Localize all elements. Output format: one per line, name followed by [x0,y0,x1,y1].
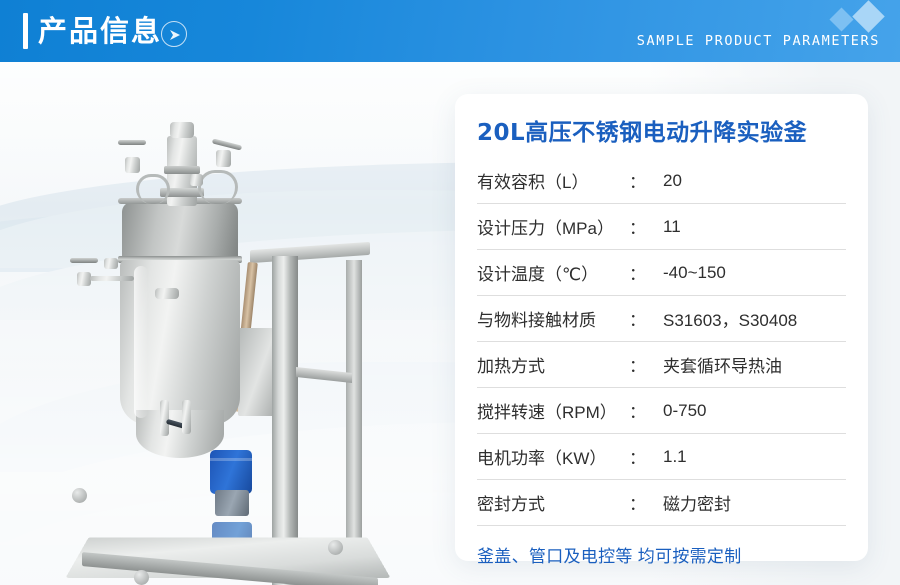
table-row: 设计压力（MPa） ： 11 [477,204,846,250]
spec-colon: ： [629,168,663,193]
spec-label: 搅拌转速（RPM） [477,398,629,423]
spec-value: 0-750 [663,401,846,421]
drive-motor [210,450,252,494]
spec-label: 密封方式 [477,490,629,515]
spec-colon: ： [629,490,663,515]
reactor-jacket [122,202,238,264]
table-row: 搅拌转速（RPM） ： 0-750 [477,388,846,434]
caster-wheel [72,488,87,503]
banner-subtitle: SAMPLE PRODUCT PARAMETERS [637,33,880,49]
product-parameters-card: 20L高压不锈钢电动升降实验釜 有效容积（L） ： 20 设计压力（MPa） ：… [455,94,868,561]
spec-value: 磁力密封 [663,490,846,515]
spec-value: 11 [663,217,846,237]
frame-column-main [272,256,298,585]
product-spec-page: 产品信息 SAMPLE PRODUCT PARAMETERS [0,0,900,585]
table-row: 有效容积（L） ： 20 [477,158,846,204]
spec-label: 与物料接触材质 [477,306,629,331]
frame-column-rear [346,260,362,578]
title-accent-bar [23,13,28,49]
spec-colon: ： [629,352,663,377]
table-row: 密封方式 ： 磁力密封 [477,480,846,526]
table-row: 电机功率（KW） ： 1.1 [477,434,846,480]
pipe-bend-left [136,174,170,204]
spec-label: 电机功率（KW） [477,444,629,469]
customization-note: 釜盖、管口及电控等 均可按需定制 [477,542,846,567]
product-image [60,70,400,575]
spec-label: 设计温度（℃） [477,260,629,285]
spec-colon: ： [629,214,663,239]
caster-wheel [328,540,343,555]
caster-wheel [134,570,149,585]
motor-gearbox [215,490,249,516]
page-title: 产品信息 [38,13,162,49]
table-row: 与物料接触材质 ： S31603，S30408 [477,296,846,342]
table-row: 设计温度（℃） ： -40~150 [477,250,846,296]
spec-value: 20 [663,171,846,191]
stirrer-cap [170,122,194,138]
frame-crossbar [296,367,352,383]
product-name: 20L高压不锈钢电动升降实验釜 [477,118,846,148]
spec-colon: ： [629,306,663,331]
diamond-decor-small [829,7,853,31]
spec-colon: ： [629,444,663,469]
pipe-bend-right [198,170,238,204]
spec-value: 1.1 [663,447,846,467]
spec-label: 加热方式 [477,352,629,377]
play-arrow-icon[interactable] [161,21,187,47]
diamond-decor-large [852,0,885,33]
spec-colon: ： [629,398,663,423]
spec-label: 有效容积（L） [477,168,629,193]
spec-colon: ： [629,260,663,285]
spec-value: S31603，S30408 [663,306,846,331]
vessel-highlight [134,266,148,418]
motor-fin [210,458,252,461]
spec-value: -40~150 [663,263,846,283]
spec-value: 夹套循环导热油 [663,352,846,377]
page-header-banner: 产品信息 SAMPLE PRODUCT PARAMETERS [0,0,900,62]
spec-label: 设计压力（MPa） [477,214,629,239]
table-row: 加热方式 ： 夹套循环导热油 [477,342,846,388]
